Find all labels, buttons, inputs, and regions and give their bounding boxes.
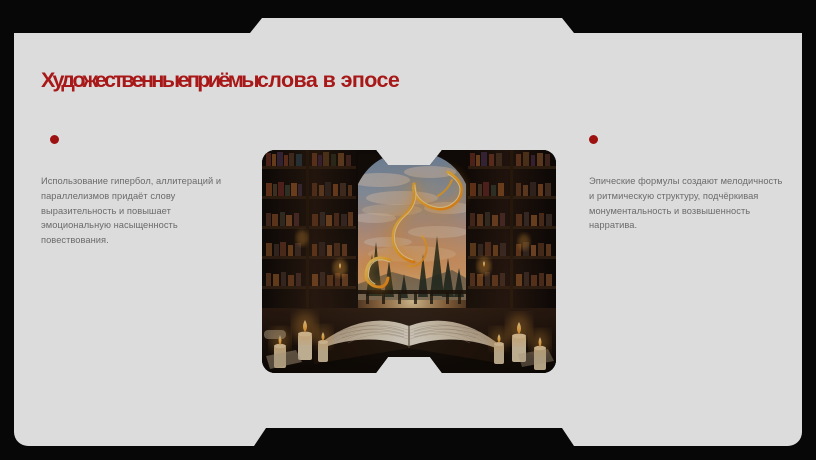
bullet-dot-icon-left <box>50 135 59 144</box>
title-part-1: Художественные <box>41 68 187 92</box>
title-part-2: приёмы <box>187 68 257 92</box>
library-book-illustration <box>262 150 556 373</box>
title-part-3: слова в эпосе <box>257 68 399 92</box>
bullet-dot-icon-right <box>589 135 598 144</box>
right-column-text: Эпические формулы создают мелодичность и… <box>589 174 785 233</box>
left-column-text: Использование гипербол, аллитераций и па… <box>41 174 227 248</box>
slide-canvas: Художественныеприёмыслова в эпосе Исполь… <box>0 0 816 460</box>
page-title: Художественныеприёмыслова в эпосе <box>41 70 399 92</box>
